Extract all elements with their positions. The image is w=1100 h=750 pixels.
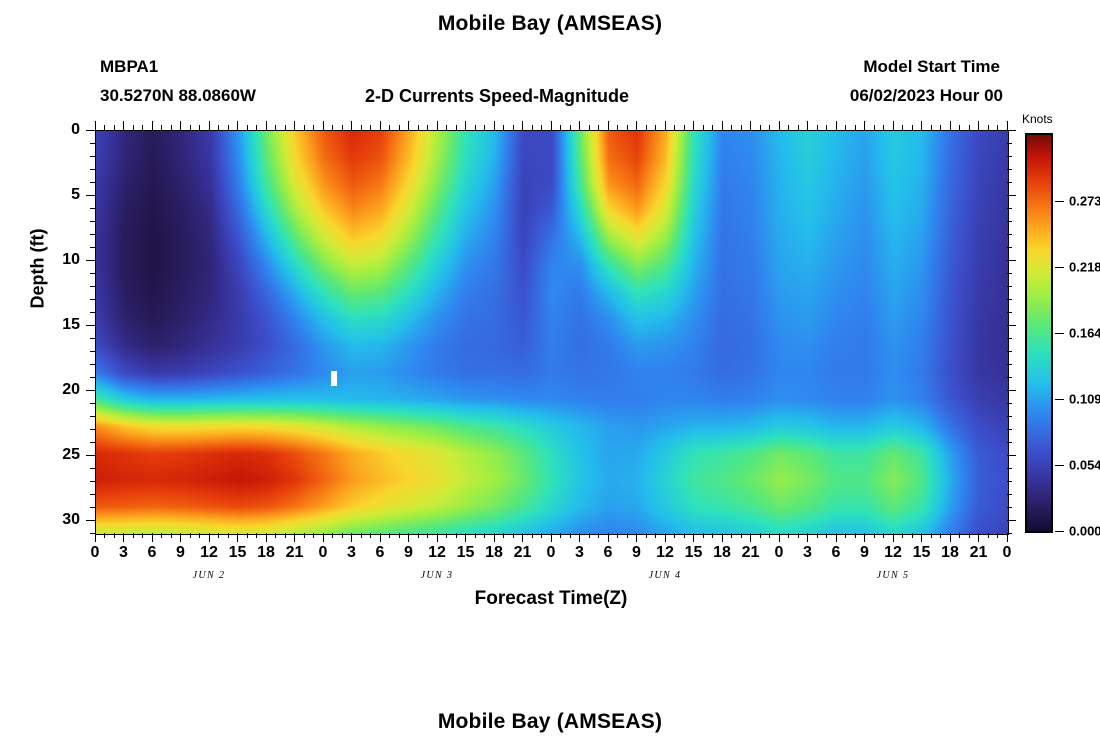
x-axis-day-label: JUN 3	[421, 570, 454, 581]
x-axis-tick	[950, 533, 951, 542]
y-axis-minor-tick-right	[1007, 533, 1012, 534]
y-axis-minor-tick-right	[1007, 442, 1012, 443]
y-axis-tick	[86, 455, 95, 456]
y-axis-minor-tick	[90, 533, 95, 534]
x-axis-tick-label: 9	[404, 544, 413, 562]
x-axis-minor-tick	[446, 533, 447, 538]
x-axis-tick-top	[294, 121, 295, 130]
y-axis-minor-tick-right	[1007, 299, 1012, 300]
x-axis-minor-tick	[969, 533, 970, 538]
x-axis-minor-tick-top	[826, 125, 827, 130]
x-axis-tick-label: 21	[970, 544, 988, 562]
x-axis-tick-label: 3	[347, 544, 356, 562]
x-axis-minor-tick-top	[541, 125, 542, 130]
x-axis-tick	[408, 533, 409, 542]
x-axis-tick-top	[693, 121, 694, 130]
x-axis-tick-top	[722, 121, 723, 130]
x-axis-minor-tick-top	[902, 125, 903, 130]
x-axis-tick	[579, 533, 580, 542]
x-axis-tick	[608, 533, 609, 542]
x-axis-minor-tick	[399, 533, 400, 538]
y-axis-minor-tick	[90, 208, 95, 209]
colorbar-tick	[1055, 201, 1064, 202]
y-axis-minor-tick	[90, 156, 95, 157]
x-axis-minor-tick-top	[161, 125, 162, 130]
x-axis-minor-tick-top	[788, 125, 789, 130]
x-axis-minor-tick	[199, 533, 200, 538]
x-axis-minor-tick	[684, 533, 685, 538]
x-axis-minor-tick	[617, 533, 618, 538]
colorbar-tick-label: 0.16400	[1069, 326, 1100, 341]
x-axis-minor-tick	[304, 533, 305, 538]
colorbar-tick	[1055, 465, 1064, 466]
y-axis-minor-tick	[90, 169, 95, 170]
y-axis-minor-tick-right	[1007, 377, 1012, 378]
x-axis-tick-top	[864, 121, 865, 130]
x-axis-tick-label: 6	[376, 544, 385, 562]
y-axis-minor-tick-right	[1007, 208, 1012, 209]
x-axis-minor-tick	[142, 533, 143, 538]
x-axis-minor-tick-top	[171, 125, 172, 130]
x-axis-minor-tick-top	[427, 125, 428, 130]
x-axis-tick	[152, 533, 153, 542]
y-axis-tick	[86, 325, 95, 326]
x-axis-tick-label: 3	[575, 544, 584, 562]
chart-page: Mobile Bay (AMSEAS) MBPA1 30.5270N 88.08…	[0, 0, 1100, 750]
x-axis-tick-top	[209, 121, 210, 130]
x-axis-tick-label: 3	[803, 544, 812, 562]
x-axis-minor-tick-top	[684, 125, 685, 130]
x-axis-minor-tick-top	[475, 125, 476, 130]
y-axis-tick	[86, 260, 95, 261]
x-axis-tick-top	[950, 121, 951, 130]
y-axis-minor-tick-right	[1007, 273, 1012, 274]
x-axis-minor-tick-top	[228, 125, 229, 130]
x-axis-minor-tick-top	[570, 125, 571, 130]
x-axis-minor-tick	[275, 533, 276, 538]
colorbar-tick-label: 0.10937	[1069, 392, 1100, 407]
x-axis-tick-label: 0	[547, 544, 556, 562]
x-axis-minor-tick	[342, 533, 343, 538]
x-axis-tick	[237, 533, 238, 542]
x-axis-minor-tick-top	[845, 125, 846, 130]
x-axis-minor-tick	[532, 533, 533, 538]
x-axis-minor-tick	[361, 533, 362, 538]
x-axis-minor-tick-top	[598, 125, 599, 130]
station-id-label: MBPA1	[100, 57, 158, 77]
x-axis-tick-top	[351, 121, 352, 130]
x-axis-minor-tick	[883, 533, 884, 538]
x-axis-minor-tick-top	[855, 125, 856, 130]
x-axis-tick-label: 12	[428, 544, 446, 562]
colorbar-tick	[1055, 333, 1064, 334]
x-axis-minor-tick	[798, 533, 799, 538]
x-axis-title: Forecast Time(Z)	[95, 588, 1007, 610]
x-axis-minor-tick	[826, 533, 827, 538]
x-axis-tick-label: 18	[941, 544, 959, 562]
x-axis-minor-tick-top	[418, 125, 419, 130]
x-axis-minor-tick-top	[285, 125, 286, 130]
x-axis-minor-tick	[731, 533, 732, 538]
colorbar-tick-label: 0.27343	[1069, 194, 1100, 209]
x-axis-tick-top	[437, 121, 438, 130]
x-axis-tick	[351, 533, 352, 542]
x-axis-minor-tick	[997, 533, 998, 538]
x-axis-tick	[437, 533, 438, 542]
y-axis-tick-label: 0	[40, 121, 80, 139]
colorbar-tick-label: 0.05468	[1069, 458, 1100, 473]
y-axis-minor-tick	[90, 403, 95, 404]
y-axis-minor-tick	[90, 182, 95, 183]
x-axis-tick-label: 0	[775, 544, 784, 562]
x-axis-minor-tick	[475, 533, 476, 538]
y-axis-minor-tick-right	[1007, 507, 1012, 508]
y-axis-tick	[86, 195, 95, 196]
x-axis-tick-label: 21	[514, 544, 532, 562]
x-axis-minor-tick-top	[760, 125, 761, 130]
x-axis-minor-tick	[769, 533, 770, 538]
x-axis-minor-tick-top	[959, 125, 960, 130]
page-title-bottom: Mobile Bay (AMSEAS)	[0, 710, 1100, 734]
x-axis-minor-tick-top	[313, 125, 314, 130]
x-axis-tick-label: 0	[319, 544, 328, 562]
y-axis-minor-tick	[90, 143, 95, 144]
x-axis-minor-tick-top	[304, 125, 305, 130]
x-axis-minor-tick-top	[218, 125, 219, 130]
x-axis-minor-tick-top	[446, 125, 447, 130]
x-axis-tick	[551, 533, 552, 542]
x-axis-tick-label: 9	[860, 544, 869, 562]
x-axis-minor-tick	[513, 533, 514, 538]
x-axis-minor-tick-top	[769, 125, 770, 130]
y-axis-minor-tick	[90, 299, 95, 300]
x-axis-minor-tick	[845, 533, 846, 538]
x-axis-tick-top	[665, 121, 666, 130]
y-axis-tick-label: 20	[40, 381, 80, 399]
y-axis-minor-tick-right	[1007, 143, 1012, 144]
x-axis-minor-tick	[256, 533, 257, 538]
x-axis-tick-top	[779, 121, 780, 130]
x-axis-minor-tick-top	[247, 125, 248, 130]
x-axis-tick	[693, 533, 694, 542]
x-axis-minor-tick	[598, 533, 599, 538]
x-axis-tick-top	[237, 121, 238, 130]
x-axis-minor-tick-top	[399, 125, 400, 130]
y-axis-minor-tick	[90, 351, 95, 352]
x-axis-minor-tick	[133, 533, 134, 538]
x-axis-tick	[95, 533, 96, 542]
y-axis-minor-tick	[90, 416, 95, 417]
colorbar-tick	[1055, 531, 1064, 532]
x-axis-tick	[779, 533, 780, 542]
colorbar-tick	[1055, 267, 1064, 268]
x-axis-tick	[266, 533, 267, 542]
x-axis-minor-tick	[389, 533, 390, 538]
x-axis-minor-tick-top	[741, 125, 742, 130]
x-axis-tick-top	[522, 121, 523, 130]
x-axis-tick	[494, 533, 495, 542]
x-axis-tick-top	[266, 121, 267, 130]
x-axis-minor-tick-top	[627, 125, 628, 130]
x-axis-tick-label: 15	[229, 544, 247, 562]
x-axis-tick	[180, 533, 181, 542]
x-axis-tick	[465, 533, 466, 542]
x-axis-tick-top	[579, 121, 580, 130]
x-axis-minor-tick	[760, 533, 761, 538]
x-axis-minor-tick	[788, 533, 789, 538]
x-axis-tick-label: 18	[713, 544, 731, 562]
x-axis-minor-tick-top	[703, 125, 704, 130]
x-axis-minor-tick-top	[589, 125, 590, 130]
y-axis-title: Depth (ft)	[28, 209, 49, 329]
x-axis-tick	[123, 533, 124, 542]
x-axis-tick-label: 6	[604, 544, 613, 562]
x-axis-tick	[836, 533, 837, 542]
colorbar-units-label: Knots	[1022, 112, 1053, 126]
y-axis-tick-right	[1007, 455, 1016, 456]
x-axis-tick	[636, 533, 637, 542]
y-axis-minor-tick-right	[1007, 468, 1012, 469]
x-axis-tick-top	[123, 121, 124, 130]
x-axis-tick-top	[836, 121, 837, 130]
y-axis-minor-tick	[90, 247, 95, 248]
x-axis-tick-label: 15	[685, 544, 703, 562]
y-axis-minor-tick	[90, 481, 95, 482]
x-axis-minor-tick-top	[361, 125, 362, 130]
x-axis-minor-tick	[218, 533, 219, 538]
x-axis-tick-top	[465, 121, 466, 130]
y-axis-minor-tick-right	[1007, 481, 1012, 482]
x-axis-tick-top	[180, 121, 181, 130]
colorbar-tick-label: 0.00000	[1069, 524, 1100, 539]
x-axis-tick	[921, 533, 922, 542]
x-axis-tick-label: 6	[148, 544, 157, 562]
x-axis-minor-tick-top	[114, 125, 115, 130]
x-axis-minor-tick	[703, 533, 704, 538]
x-axis-tick	[864, 533, 865, 542]
x-axis-minor-tick-top	[817, 125, 818, 130]
heatmap-canvas	[96, 131, 1008, 534]
x-axis-minor-tick-top	[997, 125, 998, 130]
x-axis-minor-tick-top	[513, 125, 514, 130]
x-axis-tick-top	[152, 121, 153, 130]
x-axis-minor-tick	[940, 533, 941, 538]
x-axis-tick-label: 21	[286, 544, 304, 562]
x-axis-tick	[750, 533, 751, 542]
y-axis-minor-tick	[90, 442, 95, 443]
x-axis-minor-tick	[817, 533, 818, 538]
x-axis-minor-tick-top	[332, 125, 333, 130]
y-axis-minor-tick	[90, 221, 95, 222]
x-axis-minor-tick	[161, 533, 162, 538]
x-axis-tick	[722, 533, 723, 542]
x-axis-minor-tick-top	[456, 125, 457, 130]
y-axis-tick	[86, 130, 95, 131]
y-axis-minor-tick-right	[1007, 156, 1012, 157]
y-axis-minor-tick-right	[1007, 286, 1012, 287]
y-axis-minor-tick-right	[1007, 351, 1012, 352]
y-axis-minor-tick	[90, 234, 95, 235]
x-axis-minor-tick-top	[532, 125, 533, 130]
y-axis-minor-tick-right	[1007, 234, 1012, 235]
y-axis-tick-right	[1007, 325, 1016, 326]
y-axis-tick-label: 5	[40, 186, 80, 204]
x-axis-tick-top	[551, 121, 552, 130]
x-axis-minor-tick-top	[940, 125, 941, 130]
y-axis-minor-tick-right	[1007, 338, 1012, 339]
y-axis-minor-tick-right	[1007, 312, 1012, 313]
y-axis-minor-tick-right	[1007, 416, 1012, 417]
y-axis-minor-tick	[90, 338, 95, 339]
x-axis-minor-tick	[247, 533, 248, 538]
y-axis-tick-label: 25	[40, 446, 80, 464]
x-axis-tick-top	[380, 121, 381, 130]
y-axis-minor-tick-right	[1007, 364, 1012, 365]
x-axis-minor-tick-top	[969, 125, 970, 130]
x-axis-minor-tick	[874, 533, 875, 538]
x-axis-minor-tick	[484, 533, 485, 538]
y-axis-minor-tick-right	[1007, 494, 1012, 495]
y-axis-tick-right	[1007, 130, 1016, 131]
x-axis-minor-tick	[560, 533, 561, 538]
x-axis-tick	[522, 533, 523, 542]
x-axis-tick-label: 18	[485, 544, 503, 562]
x-axis-minor-tick-top	[104, 125, 105, 130]
x-axis-tick-top	[750, 121, 751, 130]
x-axis-tick	[807, 533, 808, 542]
x-axis-tick	[1007, 533, 1008, 542]
x-axis-minor-tick	[104, 533, 105, 538]
y-axis-minor-tick-right	[1007, 403, 1012, 404]
x-axis-minor-tick-top	[617, 125, 618, 130]
x-axis-tick	[323, 533, 324, 542]
x-axis-minor-tick	[674, 533, 675, 538]
x-axis-tick	[380, 533, 381, 542]
y-axis-minor-tick	[90, 273, 95, 274]
x-axis-minor-tick-top	[731, 125, 732, 130]
y-axis-minor-tick	[90, 364, 95, 365]
x-axis-minor-tick-top	[874, 125, 875, 130]
x-axis-tick-top	[807, 121, 808, 130]
x-axis-minor-tick	[171, 533, 172, 538]
x-axis-tick-label: 12	[200, 544, 218, 562]
x-axis-tick-label: 9	[632, 544, 641, 562]
y-axis-minor-tick-right	[1007, 247, 1012, 248]
x-axis-tick-label: 6	[832, 544, 841, 562]
x-axis-minor-tick	[541, 533, 542, 538]
x-axis-minor-tick-top	[142, 125, 143, 130]
x-axis-minor-tick	[712, 533, 713, 538]
x-axis-minor-tick-top	[798, 125, 799, 130]
y-axis-minor-tick	[90, 494, 95, 495]
x-axis-day-label: JUN 2	[193, 570, 226, 581]
x-axis-minor-tick	[427, 533, 428, 538]
colorbar-tick	[1055, 399, 1064, 400]
x-axis-minor-tick-top	[275, 125, 276, 130]
x-axis-tick-label: 9	[176, 544, 185, 562]
x-axis-minor-tick	[959, 533, 960, 538]
x-axis-minor-tick-top	[342, 125, 343, 130]
x-axis-tick-top	[921, 121, 922, 130]
x-axis-minor-tick	[655, 533, 656, 538]
x-axis-minor-tick	[313, 533, 314, 538]
x-axis-tick	[294, 533, 295, 542]
x-axis-minor-tick-top	[560, 125, 561, 130]
x-axis-minor-tick	[646, 533, 647, 538]
x-axis-day-label: JUN 4	[649, 570, 682, 581]
model-start-time-label: Model Start Time	[700, 57, 1000, 77]
x-axis-minor-tick	[418, 533, 419, 538]
colorbar	[1025, 133, 1053, 533]
x-axis-tick-top	[494, 121, 495, 130]
x-axis-tick-label: 15	[457, 544, 475, 562]
x-axis-tick-top	[636, 121, 637, 130]
station-coordinates-label: 30.5270N 88.0860W	[100, 86, 256, 106]
y-axis-tick	[86, 520, 95, 521]
y-axis-tick	[86, 390, 95, 391]
x-axis-minor-tick	[988, 533, 989, 538]
x-axis-minor-tick-top	[389, 125, 390, 130]
x-axis-tick-label: 3	[119, 544, 128, 562]
y-axis-minor-tick	[90, 286, 95, 287]
colorbar-gradient	[1025, 133, 1053, 533]
y-axis-tick-right	[1007, 520, 1016, 521]
x-axis-minor-tick-top	[256, 125, 257, 130]
y-axis-minor-tick-right	[1007, 182, 1012, 183]
x-axis-minor-tick-top	[503, 125, 504, 130]
x-axis-tick-label: 18	[257, 544, 275, 562]
x-axis-minor-tick	[931, 533, 932, 538]
x-axis-tick	[978, 533, 979, 542]
x-axis-tick-label: 0	[1003, 544, 1012, 562]
x-axis-minor-tick	[627, 533, 628, 538]
x-axis-tick-top	[608, 121, 609, 130]
x-axis-minor-tick	[228, 533, 229, 538]
x-axis-tick-top	[323, 121, 324, 130]
x-axis-minor-tick	[332, 533, 333, 538]
x-axis-minor-tick	[503, 533, 504, 538]
x-axis-minor-tick	[370, 533, 371, 538]
x-axis-tick	[665, 533, 666, 542]
x-axis-minor-tick	[190, 533, 191, 538]
y-axis-tick-right	[1007, 260, 1016, 261]
x-axis-minor-tick-top	[883, 125, 884, 130]
x-axis-minor-tick-top	[655, 125, 656, 130]
y-axis-minor-tick-right	[1007, 169, 1012, 170]
x-axis-minor-tick-top	[370, 125, 371, 130]
x-axis-tick-label: 0	[91, 544, 100, 562]
x-axis-minor-tick-top	[484, 125, 485, 130]
x-axis-minor-tick-top	[712, 125, 713, 130]
y-axis-minor-tick	[90, 377, 95, 378]
x-axis-minor-tick	[456, 533, 457, 538]
x-axis-tick	[893, 533, 894, 542]
x-axis-tick-label: 21	[742, 544, 760, 562]
y-axis-minor-tick-right	[1007, 429, 1012, 430]
x-axis-minor-tick	[114, 533, 115, 538]
x-axis-minor-tick-top	[646, 125, 647, 130]
x-axis-minor-tick-top	[674, 125, 675, 130]
y-axis-minor-tick	[90, 507, 95, 508]
x-axis-day-label: JUN 5	[877, 570, 910, 581]
y-axis-minor-tick	[90, 429, 95, 430]
x-axis-minor-tick	[912, 533, 913, 538]
y-axis-tick-label: 30	[40, 511, 80, 529]
x-axis-minor-tick-top	[133, 125, 134, 130]
x-axis-tick-top	[978, 121, 979, 130]
colorbar-tick-label: 0.21875	[1069, 260, 1100, 275]
x-axis-tick-label: 12	[884, 544, 902, 562]
